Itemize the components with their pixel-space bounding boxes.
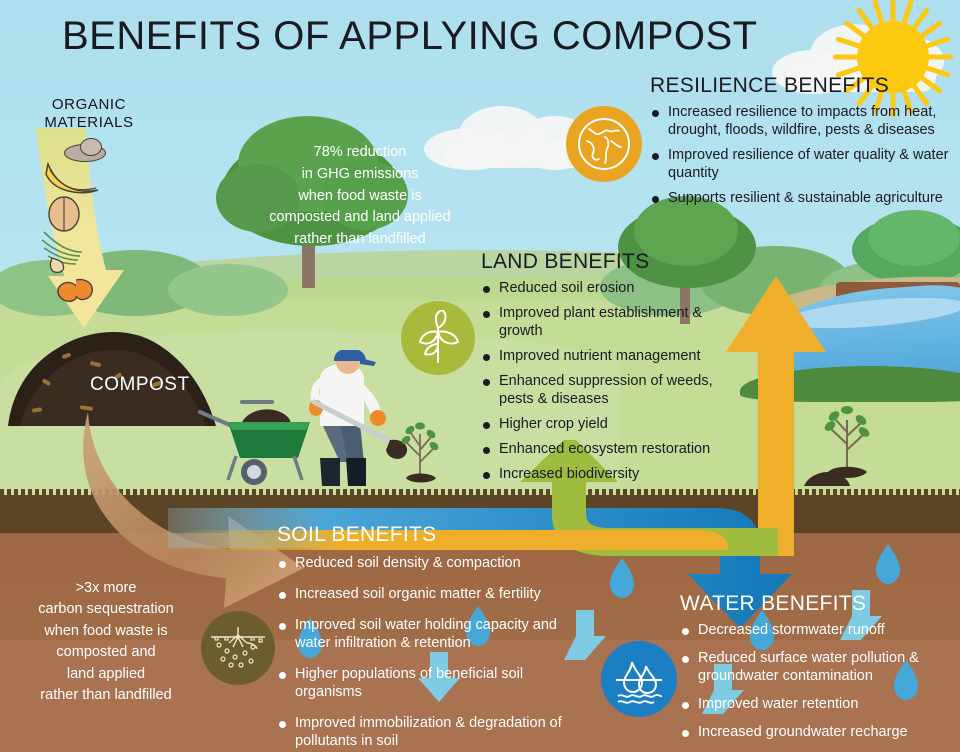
- globe-icon: [566, 106, 642, 182]
- compost-benefits-infographic: ORGANIC MATERIALS COMPOST: [0, 0, 960, 752]
- ghg-stat-line: 78% reduction: [222, 142, 498, 164]
- ghg-stat-line: rather than landfilled: [222, 229, 498, 251]
- section-soil-benefits: SOIL BENEFITS Reduced soil density & com…: [277, 523, 569, 752]
- list-item: Improved soil water holding capacity and…: [277, 617, 569, 653]
- list-item: Higher crop yield: [481, 416, 721, 434]
- section-resilience-benefits: RESILIENCE BENEFITS Increased resilience…: [650, 74, 950, 215]
- list-item: Increased biodiversity: [481, 466, 721, 484]
- list-item: Increased groundwater recharge: [680, 724, 948, 742]
- list-item: Improved resilience of water quality & w…: [650, 147, 950, 183]
- sun-ray: [835, 36, 861, 49]
- organic-materials-label-line1: ORGANIC: [30, 96, 148, 114]
- list-item: Decreased stormwater runoff: [680, 622, 948, 640]
- list-item: Reduced soil density & compaction: [277, 555, 569, 573]
- carbon-stat-line: composted and: [10, 642, 202, 663]
- organic-materials-label: ORGANIC MATERIALS: [30, 96, 148, 131]
- soil-roots-icon: [201, 611, 275, 685]
- sun-ray: [833, 55, 859, 60]
- section-title-land: LAND BENEFITS: [481, 250, 721, 274]
- list-item: Improved water retention: [680, 696, 948, 714]
- carbon-stat-line: rather than landfilled: [10, 685, 202, 706]
- carbon-sequestration-stat: >3x more carbon sequestration when food …: [10, 578, 202, 707]
- section-land-benefits: LAND BENEFITS Reduced soil erosion Impro…: [481, 250, 721, 491]
- soil-benefits-list: Reduced soil density & compaction Increa…: [277, 555, 569, 751]
- ghg-stat-line: when food waste is: [222, 186, 498, 208]
- banana-peel-icon: [44, 162, 100, 196]
- sun-ray: [891, 0, 896, 23]
- land-benefits-list: Reduced soil erosion Improved plant esta…: [481, 280, 721, 484]
- list-item: Improved immobilization & degradation of…: [277, 715, 569, 751]
- plant-leaves-icon: [401, 301, 475, 375]
- section-title-water: WATER BENEFITS: [680, 592, 948, 616]
- water-drops-icon: [601, 641, 677, 717]
- list-item: Reduced soil erosion: [481, 280, 721, 298]
- list-item: Enhanced ecosystem restoration: [481, 441, 721, 459]
- carbon-stat-line: when food waste is: [10, 621, 202, 642]
- sapling-icon: [398, 418, 442, 492]
- potato-scrap-icon: [80, 138, 102, 156]
- sun-ray: [872, 0, 885, 25]
- section-title-soil: SOIL BENEFITS: [277, 523, 569, 547]
- list-item: Increased soil organic matter & fertilit…: [277, 586, 569, 604]
- greens-scrap-icon: [38, 228, 94, 276]
- sun-ray: [843, 20, 867, 39]
- organic-materials-label-line2: MATERIALS: [30, 114, 148, 132]
- compost-label: COMPOST: [90, 374, 190, 396]
- list-item: Enhanced suppression of weeds, pests & d…: [481, 373, 721, 409]
- carbon-stat-line: carbon sequestration: [10, 599, 202, 620]
- list-item: Supports resilient & sustainable agricul…: [650, 190, 950, 208]
- list-item: Reduced surface water pollution & ground…: [680, 650, 948, 686]
- water-benefits-list: Decreased stormwater runoff Reduced surf…: [680, 622, 948, 742]
- list-item: Improved plant establishment & growth: [481, 305, 721, 341]
- sun-ray: [901, 0, 914, 25]
- ghg-reduction-stat: 78% reduction in GHG emissions when food…: [222, 142, 498, 251]
- organic-materials-chute: [24, 128, 144, 348]
- ghg-stat-line: composted and land applied: [222, 207, 498, 229]
- page-title: BENEFITS OF APPLYING COMPOST: [62, 14, 758, 59]
- carbon-stat-line: land applied: [10, 664, 202, 685]
- list-item: Improved nutrient management: [481, 348, 721, 366]
- sun-ray: [856, 7, 875, 31]
- farmer-spreading-compost: [298, 350, 410, 496]
- compost-mound-small: [800, 470, 854, 488]
- ghg-stat-line: in GHG emissions: [222, 164, 498, 186]
- list-item: Higher populations of beneficial soil or…: [277, 666, 569, 702]
- carbon-stat-line: >3x more: [10, 578, 202, 599]
- sun-ray: [919, 20, 943, 39]
- sun-ray: [927, 55, 953, 60]
- section-water-benefits: WATER BENEFITS Decreased stormwater runo…: [680, 592, 948, 749]
- resilience-benefits-list: Increased resilience to impacts from hea…: [650, 104, 950, 208]
- carrot-scrap-icon: [56, 278, 96, 310]
- section-title-resilience: RESILIENCE BENEFITS: [650, 74, 950, 98]
- sun-ray: [925, 36, 951, 49]
- list-item: Increased resilience to impacts from hea…: [650, 104, 950, 140]
